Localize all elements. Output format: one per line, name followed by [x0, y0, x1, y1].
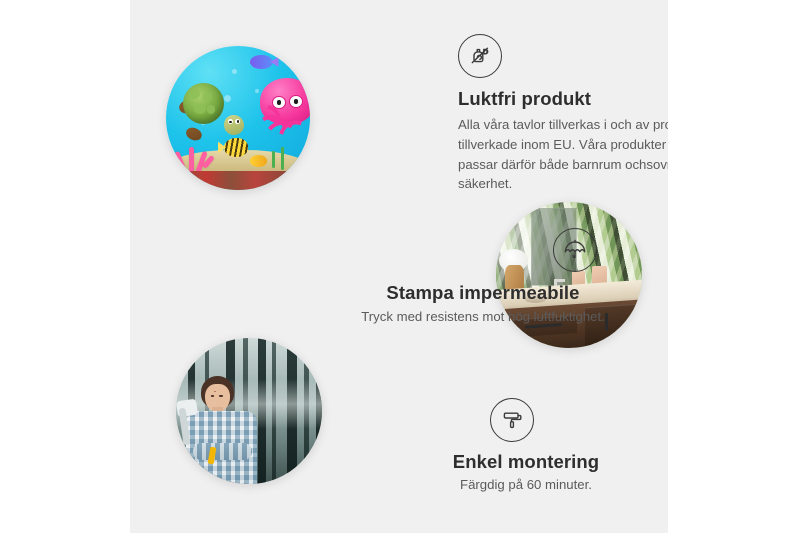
sea-weed — [281, 147, 284, 170]
yellow-striped-fish — [224, 138, 248, 157]
feature-body: Färgdig på 60 minuter. — [426, 475, 626, 495]
small-orange-fish — [250, 155, 267, 167]
photo-underwater-kids-mural — [166, 46, 310, 190]
pink-octopus — [255, 78, 310, 153]
paint-roller-icon — [490, 398, 534, 442]
umbrella-icon — [553, 228, 597, 272]
feature-title: Luktfri produkt — [458, 88, 668, 110]
no-fragrance-spray-icon — [458, 34, 502, 78]
promo-panel: Luktfri produkt Alla våra tavlor tillver… — [130, 0, 668, 533]
feature-body: Alla våra tavlor tillverkas i och av pro… — [458, 115, 668, 194]
lower-photo-strip — [166, 171, 310, 190]
woman-with-roller — [185, 376, 267, 484]
feature-body: Tryck med resistens mot hög luftfuktighe… — [358, 307, 608, 327]
feature-waterproof-print: Stampa impermeabile Tryck med resistens … — [358, 228, 608, 327]
feature-odour-free: Luktfri produkt Alla våra tavlor tillver… — [458, 34, 668, 194]
feature-easy-mounting: Enkel montering Färgdig på 60 minuter. — [426, 398, 626, 495]
sea-weed — [272, 151, 275, 168]
pink-coral — [169, 135, 215, 175]
screenshot-canvas: Luktfri produkt Alla våra tavlor tillver… — [0, 0, 800, 533]
photo-woman-paint-roller-forest — [176, 338, 322, 484]
sea-turtle — [179, 81, 245, 139]
blue-fish — [250, 55, 273, 69]
feature-title: Stampa impermeabile — [358, 282, 608, 304]
feature-title: Enkel montering — [426, 451, 626, 473]
